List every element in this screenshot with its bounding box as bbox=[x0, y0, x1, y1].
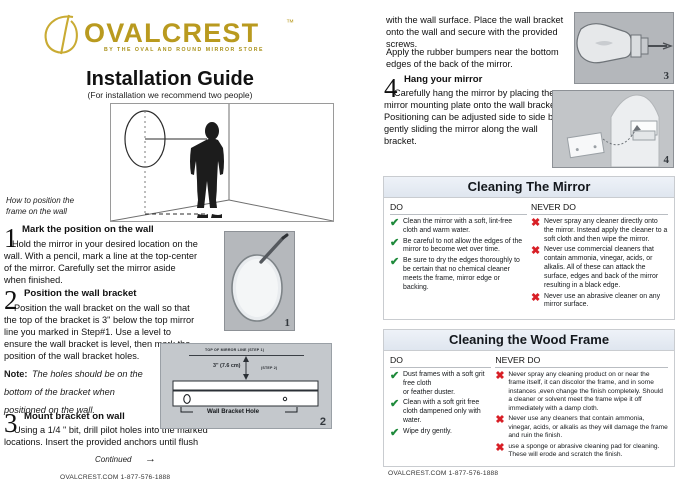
room-position-diagram bbox=[110, 103, 334, 222]
mirror-neverdo-column: NEVER DO ✖ Never spray any cleaner direc… bbox=[529, 202, 670, 312]
continued-label: Continued bbox=[95, 455, 131, 464]
frame-neverdo-header: NEVER DO bbox=[495, 355, 668, 368]
installation-guide-page: OVALCREST ™ BY THE OVAL AND ROUND MIRROR… bbox=[0, 0, 679, 489]
mirror-neverdo-header: NEVER DO bbox=[531, 202, 668, 215]
oval-script-icon bbox=[40, 12, 86, 58]
mirror-do-header: DO bbox=[390, 202, 527, 215]
step-1-heading: Mark the position on the wall bbox=[22, 224, 204, 235]
frame-never-item-2: Never use any cleaners that contain ammo… bbox=[508, 415, 668, 440]
cleaning-wood-frame-panel: Cleaning the Wood Frame DO ✔ Dust frames… bbox=[383, 329, 675, 467]
list-item: ✔ Be sure to dry the edges thoroughly to… bbox=[390, 257, 527, 292]
diagram-caption: How to position the frame on the wall bbox=[6, 196, 106, 218]
continued-arrow-icon: → bbox=[145, 455, 156, 464]
mirror-do-item-2: Be careful to not allow the edges of the… bbox=[403, 238, 527, 256]
check-icon: ✔ bbox=[390, 218, 403, 236]
continued-paragraph-2: Apply the rubber bumpers near the bottom… bbox=[386, 46, 564, 70]
bracket-dimension-step: (STEP 2) bbox=[261, 366, 277, 370]
frame-do-header: DO bbox=[390, 355, 491, 368]
bracket-dimension: 3" (7.6 cm) bbox=[213, 363, 240, 369]
page-subtitle: (For installation we recommend two peopl… bbox=[0, 90, 340, 100]
list-item: ✖ Never spray any cleaner directly onto … bbox=[531, 218, 668, 244]
cleaning-mirror-title: Cleaning The Mirror bbox=[384, 177, 674, 198]
frame-do-column: DO ✔ Dust frames with a soft grit free c… bbox=[388, 355, 493, 461]
step-4: 4 Hang your mirror Carefully hang the mi… bbox=[384, 74, 569, 147]
oval-mirror-photo bbox=[225, 232, 294, 330]
mirror-do-item-1: Clean the mirror with a soft, lint-free … bbox=[403, 218, 527, 236]
frame-do-item-2: Clean with a soft grit free cloth dampen… bbox=[403, 399, 491, 425]
right-column: with the wall surface. Place the wall br… bbox=[378, 0, 679, 489]
step-2-number: 2 bbox=[4, 288, 18, 312]
list-item: ✔ Clean the mirror with a soft, lint-fre… bbox=[390, 218, 527, 236]
list-item: ✖ use a sponge or abrasive cleaning pad … bbox=[495, 443, 668, 460]
brand-tagline: BY THE OVAL AND ROUND MIRROR STORE bbox=[104, 47, 264, 53]
step-4-body: Carefully hang the mirror by placing the… bbox=[384, 87, 564, 147]
mirror-do-item-3: Be sure to dry the edges thoroughly to b… bbox=[403, 257, 527, 292]
list-item: ✔ Clean with a soft grit free cloth damp… bbox=[390, 399, 491, 425]
cross-icon: ✖ bbox=[495, 415, 508, 440]
bracket-diagram-svg bbox=[161, 344, 331, 428]
mirror-never-item-2: Never use commercial cleaners that conta… bbox=[544, 246, 668, 290]
photo-panel-3: 3 bbox=[574, 12, 674, 84]
list-item: ✔ Dust frames with a soft grit free clot… bbox=[390, 371, 491, 397]
wall-bracket-hole-label: Wall Bracket Hole bbox=[207, 408, 259, 415]
list-item: ✖ Never use an abrasive cleaner on any m… bbox=[531, 293, 668, 311]
trademark-symbol: ™ bbox=[286, 18, 294, 27]
cleaning-wood-frame-title: Cleaning the Wood Frame bbox=[384, 330, 674, 351]
cleaning-mirror-panel: Cleaning The Mirror DO ✔ Clean the mirro… bbox=[383, 176, 675, 320]
frame-do-item-3: Wipe dry gently. bbox=[403, 428, 452, 440]
cross-icon: ✖ bbox=[495, 371, 508, 413]
step-1: 1 Mark the position on the wall Hold the… bbox=[4, 224, 204, 286]
left-column: OVALCREST ™ BY THE OVAL AND ROUND MIRROR… bbox=[0, 0, 372, 489]
check-icon: ✔ bbox=[390, 399, 403, 425]
check-icon: ✔ bbox=[390, 371, 403, 397]
footer-left: OVALCREST.COM 1-877-576-1888 bbox=[60, 474, 170, 481]
frame-never-item-3: use a sponge or abrasive cleaning pad fo… bbox=[508, 443, 668, 460]
list-item: ✖ Never use any cleaners that contain am… bbox=[495, 415, 668, 440]
continued-paragraph-1: with the wall surface. Place the wall br… bbox=[386, 14, 564, 50]
room-diagram-svg bbox=[111, 104, 333, 221]
step-1-number: 1 bbox=[4, 226, 18, 250]
list-item: ✔ Wipe dry gently. bbox=[390, 428, 491, 440]
mirror-never-item-1: Never spray any cleaner directly onto th… bbox=[544, 218, 668, 244]
frame-do-item-1: Dust frames with a soft grit free cloth … bbox=[403, 371, 491, 397]
mirror-never-item-3: Never use an abrasive cleaner on any mir… bbox=[544, 293, 668, 311]
photo-panel-1: 1 bbox=[224, 231, 295, 331]
photo-panel-4: 4 bbox=[552, 90, 674, 168]
step-4-number: 4 bbox=[384, 76, 398, 100]
cross-icon: ✖ bbox=[531, 218, 544, 244]
brand-logo: OVALCREST ™ BY THE OVAL AND ROUND MIRROR… bbox=[40, 14, 330, 58]
photo-3-number: 3 bbox=[664, 70, 670, 82]
check-icon: ✔ bbox=[390, 238, 403, 256]
step-2-note-label: Note: bbox=[4, 369, 27, 379]
check-icon: ✔ bbox=[390, 428, 403, 440]
step-4-heading: Hang your mirror bbox=[404, 74, 569, 85]
mirror-do-column: DO ✔ Clean the mirror with a soft, lint-… bbox=[388, 202, 529, 312]
footer-right: OVALCREST.COM 1-877-576-1888 bbox=[388, 470, 498, 477]
list-item: ✖ Never use commercial cleaners that con… bbox=[531, 246, 668, 290]
step-3-number: 3 bbox=[4, 411, 18, 435]
cross-icon: ✖ bbox=[495, 443, 508, 460]
check-icon: ✔ bbox=[390, 257, 403, 292]
frame-never-item-1: Never spray any cleaning product on or n… bbox=[508, 371, 668, 413]
frame-neverdo-column: NEVER DO ✖ Never spray any cleaning prod… bbox=[493, 355, 670, 461]
brand-name: OVALCREST bbox=[84, 18, 259, 49]
list-item: ✔ Be careful to not allow the edges of t… bbox=[390, 238, 527, 256]
photo-1-number: 1 bbox=[285, 317, 291, 329]
step-1-body: Hold the mirror in your desired location… bbox=[4, 238, 200, 286]
photo-4-number: 4 bbox=[664, 154, 670, 166]
step-2-heading: Position the wall bracket bbox=[24, 288, 204, 299]
photo-2-number: 2 bbox=[320, 416, 326, 428]
bracket-diagram-panel: TOP OF MIRROR LINE (STEP 1) 3" (7.6 cm) … bbox=[160, 343, 332, 429]
cross-icon: ✖ bbox=[531, 293, 544, 311]
list-item: ✖ Never spray any cleaning product on or… bbox=[495, 371, 668, 413]
cross-icon: ✖ bbox=[531, 246, 544, 290]
mounting-plate-photo bbox=[553, 91, 673, 167]
page-title: Installation Guide bbox=[0, 68, 340, 91]
drill-photo bbox=[575, 13, 673, 83]
